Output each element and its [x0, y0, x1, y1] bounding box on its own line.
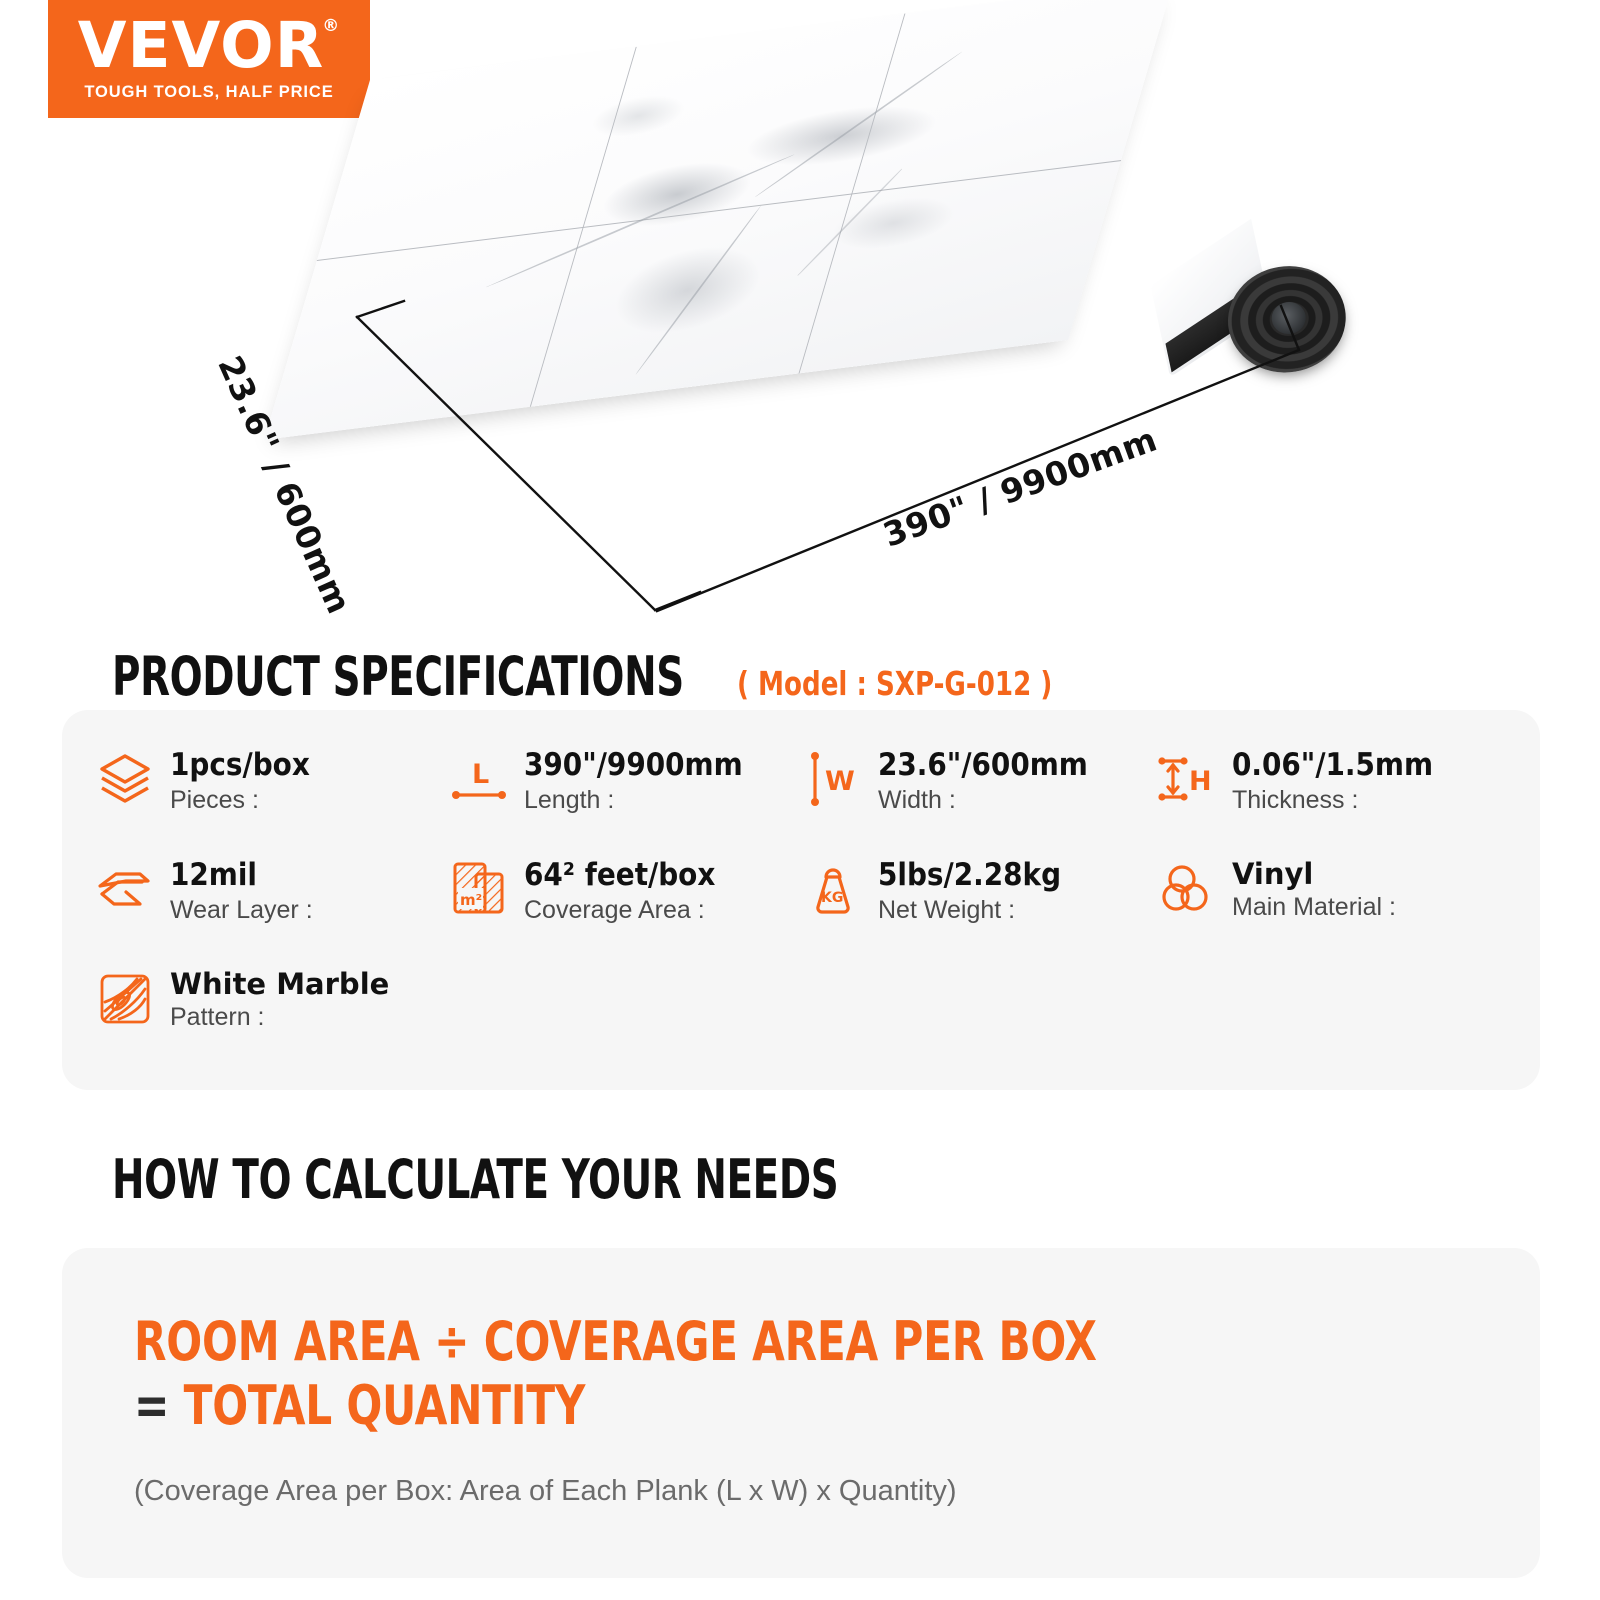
specifications-grid: 1pcs/box Pieces : L 3: [62, 710, 1540, 1090]
spec-value: 390"/9900mm: [524, 748, 743, 783]
formula-note: (Coverage Area per Box: Area of Each Pla…: [134, 1475, 1540, 1508]
spec-key: Width :: [878, 785, 1088, 816]
spec-value: 5lbs/2.28kg: [878, 858, 1061, 893]
area-square-meter-icon: m²: [448, 858, 510, 920]
spec-key: Length :: [524, 785, 743, 816]
spec-value: White Marble: [170, 968, 389, 1000]
spec-item-pieces: 1pcs/box Pieces :: [94, 746, 448, 828]
svg-text:L: L: [472, 759, 489, 790]
weight-kg-icon: KG: [802, 858, 864, 920]
svg-text:H: H: [1189, 766, 1212, 797]
formula-line-1: ROOM AREA ÷ COVERAGE AREA PER BOX: [134, 1310, 1357, 1374]
wear-layer-icon: [94, 858, 156, 920]
spec-key: Main Material :: [1232, 892, 1396, 923]
model-number: ( Model : SXP-G-012 ): [737, 664, 1052, 703]
spec-value: 12mil: [170, 858, 313, 893]
spec-item-length: L 390"/9900mm Length :: [448, 746, 802, 828]
material-circles-icon: [1156, 858, 1218, 920]
spec-key: Wear Layer :: [170, 895, 313, 926]
spec-item-coverage-area: m² 64² feet/box Coverage Area :: [448, 856, 802, 938]
length-dimension-icon: L: [448, 748, 510, 810]
dimension-callout-lines: [0, 20, 1600, 640]
spec-value: 0.06"/1.5mm: [1232, 748, 1433, 783]
spec-item-width: W 23.6"/600mm Width :: [802, 746, 1156, 828]
calculate-title: HOW TO CALCULATE YOUR NEEDS: [112, 1148, 838, 1211]
spec-item-main-material: Vinyl Main Material :: [1156, 856, 1510, 938]
stacked-layers-icon: [94, 748, 156, 810]
spec-value: Vinyl: [1232, 858, 1396, 890]
formula-line-2: = TOTAL QUANTITY: [134, 1374, 1357, 1438]
formula-equals-sign: =: [134, 1374, 169, 1437]
spec-key: Coverage Area :: [524, 895, 715, 926]
spec-value: 23.6"/600mm: [878, 748, 1088, 783]
spec-key: Pattern :: [170, 1002, 389, 1033]
svg-text:W: W: [825, 766, 855, 797]
svg-text:m²: m²: [460, 891, 482, 909]
calculate-card: ROOM AREA ÷ COVERAGE AREA PER BOX = TOTA…: [62, 1248, 1540, 1578]
wood-grain-pattern-icon: [94, 968, 156, 1030]
spec-item-wear-layer: 12mil Wear Layer :: [94, 856, 448, 938]
spec-item-net-weight: KG 5lbs/2.28kg Net Weight :: [802, 856, 1156, 938]
spec-value: 64² feet/box: [524, 858, 715, 893]
svg-text:KG: KG: [821, 890, 843, 906]
hero-product-image: 23.6" / 600mm 390" / 9900mm: [0, 20, 1600, 620]
spec-value: 1pcs/box: [170, 748, 310, 783]
thickness-dimension-icon: H: [1156, 748, 1218, 810]
specifications-heading: PRODUCT SPECIFICATIONS ( Model : SXP-G-0…: [112, 645, 1095, 708]
specifications-card: 1pcs/box Pieces : L 3: [62, 710, 1540, 1090]
calculate-heading: HOW TO CALCULATE YOUR NEEDS: [112, 1148, 1020, 1211]
spec-item-thickness: H 0.06"/1.5mm Thickness :: [1156, 746, 1510, 828]
spec-key: Net Weight :: [878, 895, 1061, 926]
spec-key: Thickness :: [1232, 785, 1433, 816]
product-spec-page: VEVOR ® TOUGH TOOLS, HALF PRICE: [0, 0, 1600, 1600]
specifications-title: PRODUCT SPECIFICATIONS: [112, 645, 684, 708]
spec-key: Pieces :: [170, 785, 310, 816]
width-dimension-icon: W: [802, 748, 864, 810]
formula-total-quantity: TOTAL QUANTITY: [184, 1374, 586, 1437]
spec-item-pattern: White Marble Pattern :: [94, 966, 448, 1048]
